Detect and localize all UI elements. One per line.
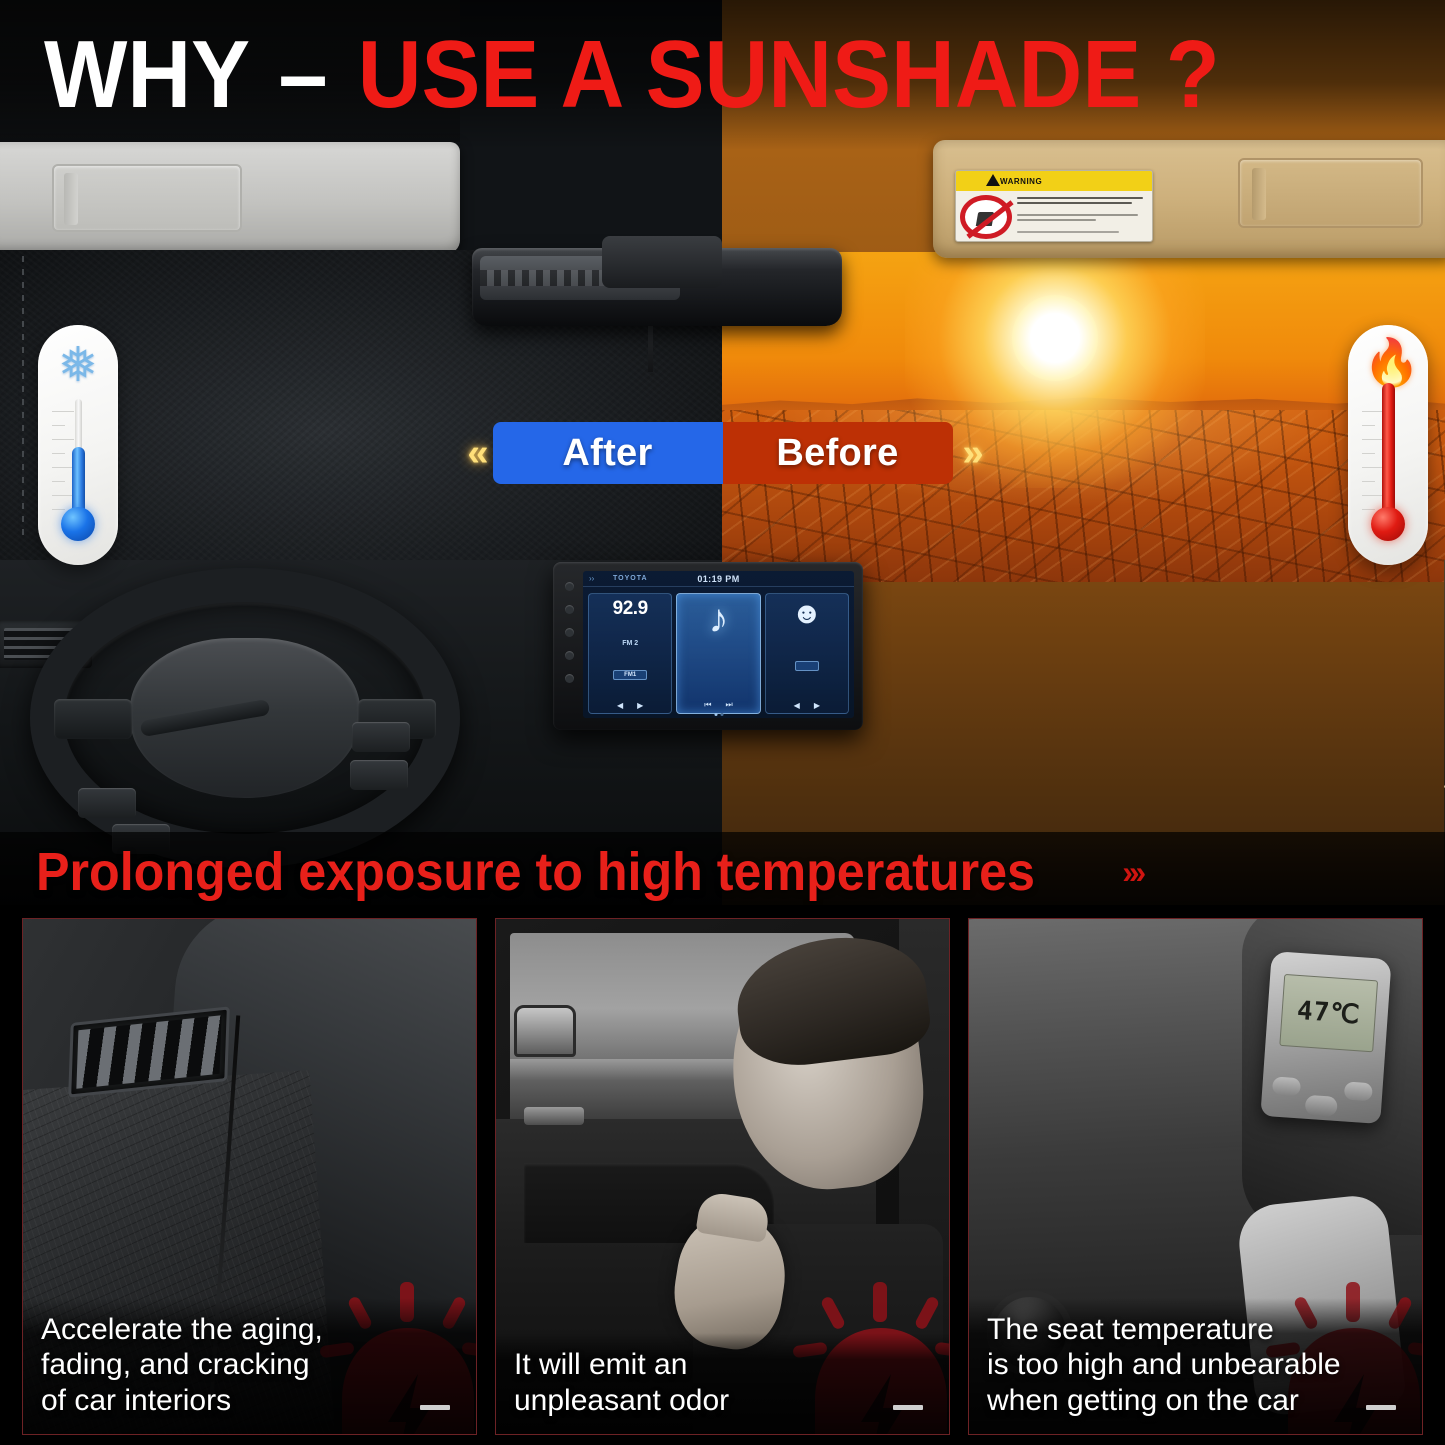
forward-button[interactable]: ⏭ (725, 700, 732, 710)
section-heading: Prolonged exposure to high temperatures … (0, 832, 1445, 912)
title-bar: WHY – USE A SUNSHADE ? (0, 0, 1445, 150)
visor-mirror-cover-right (1238, 158, 1423, 228)
bluetooth-icon: ›› (589, 574, 594, 583)
side-mirror (514, 1005, 576, 1057)
underscore-mark (893, 1405, 923, 1410)
speaker-icon[interactable] (565, 628, 574, 637)
thermometer-bulb-cold (61, 507, 95, 541)
warning-label-text: WARNING (1000, 177, 1042, 186)
sunshade-stitching (22, 256, 24, 536)
chevron-right-icon: » (953, 434, 988, 472)
panel-unpleasant-odor: It will emit an unpleasant odor (495, 918, 950, 1435)
steering-spoke-left (54, 699, 132, 739)
caption-line: fading, and cracking (41, 1347, 460, 1382)
head-unit-brand: TOYOTA (613, 575, 648, 582)
clock-label: 01:19 PM (697, 574, 739, 584)
warning-triangle-icon (986, 174, 1000, 186)
temperature-reading: 47℃ (1296, 996, 1361, 1030)
volume-knob-icon[interactable] (565, 605, 574, 614)
warning-label-body (956, 191, 1152, 242)
panel-caption: It will emit an unpleasant odor (496, 1333, 949, 1434)
phone-chip[interactable] (795, 661, 819, 671)
tile-profile[interactable]: ☻ ◀ ▶ (765, 593, 849, 714)
menu-icon[interactable] (565, 674, 574, 683)
sun-visor-left (0, 142, 460, 254)
comparison-badges: « After Before » (0, 415, 1445, 491)
flame-icon: 🔥 (1363, 337, 1413, 387)
next-button[interactable]: ▶ (814, 701, 820, 710)
title-part-why: WHY (44, 21, 248, 128)
door-handle (524, 1107, 584, 1125)
caption-line: Accelerate the aging, (41, 1312, 460, 1347)
caption-line: The seat temperature (987, 1312, 1406, 1347)
steering-button-pad (78, 788, 136, 818)
panel-aging-interiors: Accelerate the aging, fading, and cracki… (22, 918, 477, 1435)
title-part-sunshade: USE A SUNSHADE ? (358, 21, 1220, 128)
infographic-poster: WARNING (0, 0, 1445, 1445)
warning-label-header: WARNING (956, 171, 1152, 191)
prev-button[interactable]: ◀ (617, 701, 623, 710)
next-button[interactable]: ▶ (637, 701, 643, 710)
tile-radio[interactable]: 92.9 FM 2 FM1 ◀ ▶ (588, 593, 672, 714)
consequence-panels: Accelerate the aging, fading, and cracki… (0, 912, 1445, 1445)
badge-after: After (493, 422, 723, 484)
thermometer-bulb-hot (1371, 507, 1405, 541)
seek-icon[interactable] (565, 651, 574, 660)
radio-controls[interactable]: ◀ ▶ (617, 701, 643, 710)
caption-line: is too high and unbearable (987, 1347, 1406, 1382)
infotainment-screen[interactable]: ›› TOYOTA 01:19 PM 92.9 FM 2 FM1 ◀ ▶ (583, 571, 854, 718)
rearview-mirror (472, 248, 842, 326)
child-seat-glyph (976, 212, 994, 226)
caption-line: It will emit an (514, 1347, 933, 1382)
radio-frequency-value: 92.9 (613, 599, 648, 618)
badge-before: Before (723, 422, 953, 484)
rewind-button[interactable]: ⏮ (704, 700, 711, 710)
prev-button[interactable]: ◀ (794, 701, 800, 710)
infrared-thermometer-gun: 47℃ (1260, 951, 1391, 1124)
power-knob-icon[interactable] (565, 582, 574, 591)
panel-caption: Accelerate the aging, fading, and cracki… (23, 1298, 476, 1434)
rearview-mirror-housing (602, 236, 722, 288)
unit-button[interactable] (1344, 1081, 1373, 1101)
caption-line: of car interiors (41, 1383, 460, 1418)
panel-caption: The seat temperature is too high and unb… (969, 1298, 1422, 1434)
section-heading-text: Prolonged exposure to high temperatures (36, 841, 1035, 903)
warning-label-microcopy (1017, 195, 1148, 239)
radio-preset-chip[interactable]: FM1 (613, 670, 647, 680)
person-icon: ☻ (791, 599, 823, 629)
title-dash: – (273, 21, 333, 128)
visor-warning-label: WARNING (955, 170, 1153, 242)
rearview-mirror-stem (648, 320, 653, 372)
infotainment-head-unit[interactable]: ›› TOYOTA 01:19 PM 92.9 FM 2 FM1 ◀ ▶ (553, 562, 863, 730)
snowflake-icon: ❅ (53, 341, 103, 391)
steering-button-pad (352, 722, 410, 752)
music-note-icon: ♪ (708, 599, 728, 639)
screen-status-bar: ›› TOYOTA 01:19 PM (583, 571, 854, 587)
page-title: WHY – USE A SUNSHADE ? (44, 27, 1220, 123)
sun-icon (1012, 295, 1098, 381)
profile-controls[interactable]: ◀ ▶ (794, 701, 820, 710)
tile-media[interactable]: ♪ ⏮ ⏭ (676, 593, 760, 714)
screen-tiles: 92.9 FM 2 FM1 ◀ ▶ ♪ ⏮ ⏭ (583, 587, 854, 718)
underscore-mark (1366, 1405, 1396, 1410)
no-child-seat-icon (960, 195, 1012, 239)
radio-band-label: FM 2 (622, 640, 638, 647)
panel-hot-seat-temperature: 47℃ (968, 918, 1423, 1435)
page-dots[interactable] (714, 713, 723, 716)
sun-visor-right: WARNING (933, 140, 1445, 258)
head-unit-bezel-buttons[interactable] (558, 582, 580, 683)
trigger-button[interactable] (1305, 1095, 1338, 1117)
underscore-mark (420, 1405, 450, 1410)
caption-line: when getting on the car (987, 1383, 1406, 1418)
mode-button[interactable] (1272, 1076, 1301, 1096)
media-controls[interactable]: ⏮ ⏭ (704, 700, 732, 710)
chevron-left-icon: « (457, 434, 492, 472)
caption-line: unpleasant odor (514, 1383, 933, 1418)
chevron-right-triple-icon: ››› (1122, 854, 1142, 891)
thermometer-lcd-display: 47℃ (1279, 974, 1378, 1052)
visor-mirror-cover-left (52, 164, 242, 232)
steering-button-pad (350, 760, 408, 790)
